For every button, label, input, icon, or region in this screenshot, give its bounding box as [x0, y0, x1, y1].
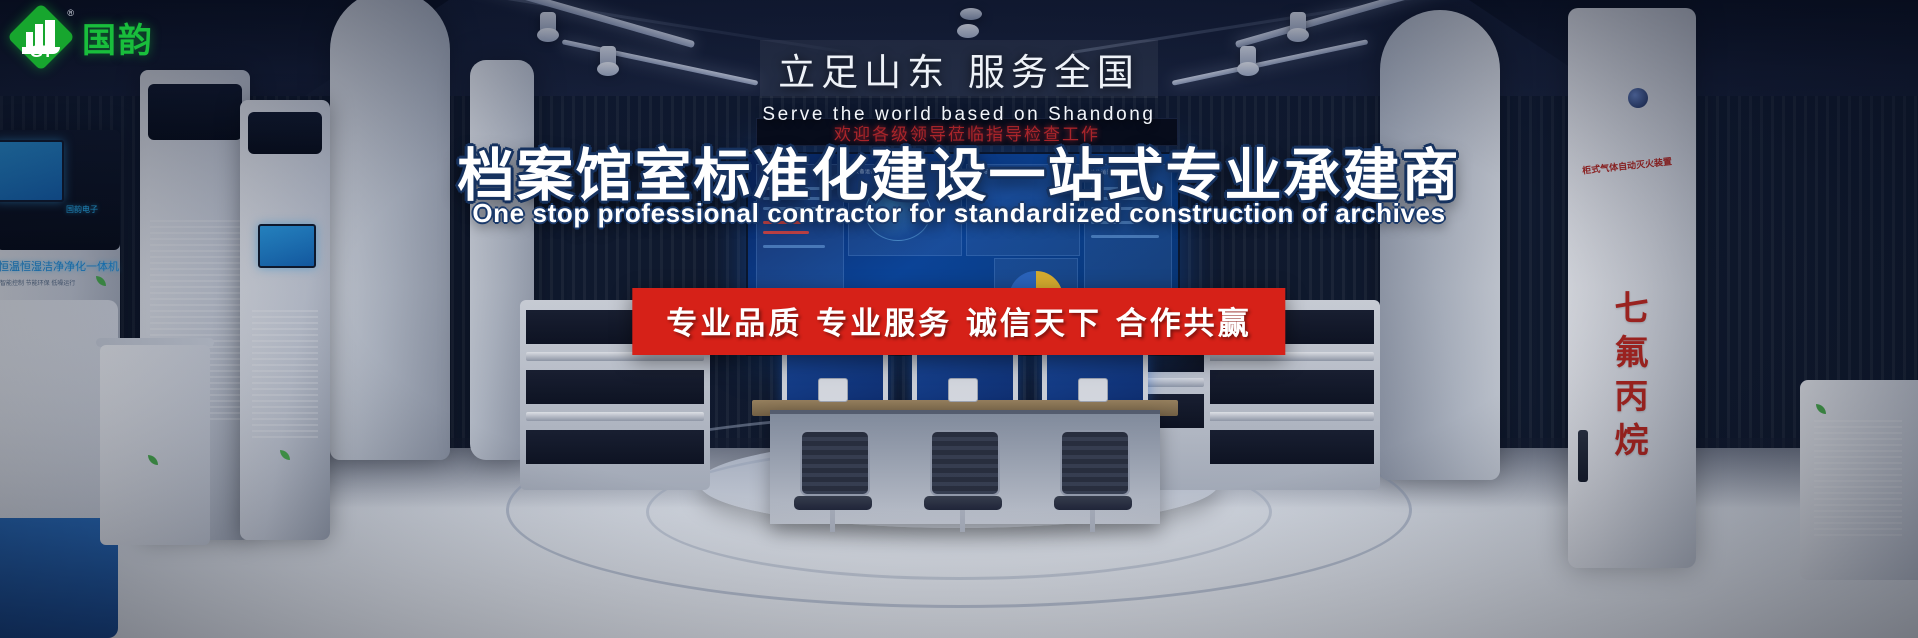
banner-overlay: GY ® 国韵 立足山东 服务全国 Serve the world based … — [0, 0, 1918, 638]
hero-slogan-bar: 专业品质 专业服务 诚信天下 合作共赢 — [632, 288, 1285, 355]
hero-slogan-text: 专业品质 专业服务 诚信天下 合作共赢 — [666, 298, 1251, 343]
registered-mark: ® — [67, 8, 74, 18]
hero-kicker-cn: 立足山东 服务全国 — [760, 40, 1158, 98]
hero-banner: 单位安全防护情况 设备运行 数据监控分析 环境温湿度监测 33.33% — [0, 0, 1918, 638]
hero-kicker: 立足山东 服务全国 Serve the world based on Shand… — [0, 40, 1918, 126]
hero-subheadline: One stop professional contractor for sta… — [0, 198, 1918, 229]
hero-kicker-en: Serve the world based on Shandong — [0, 104, 1918, 126]
